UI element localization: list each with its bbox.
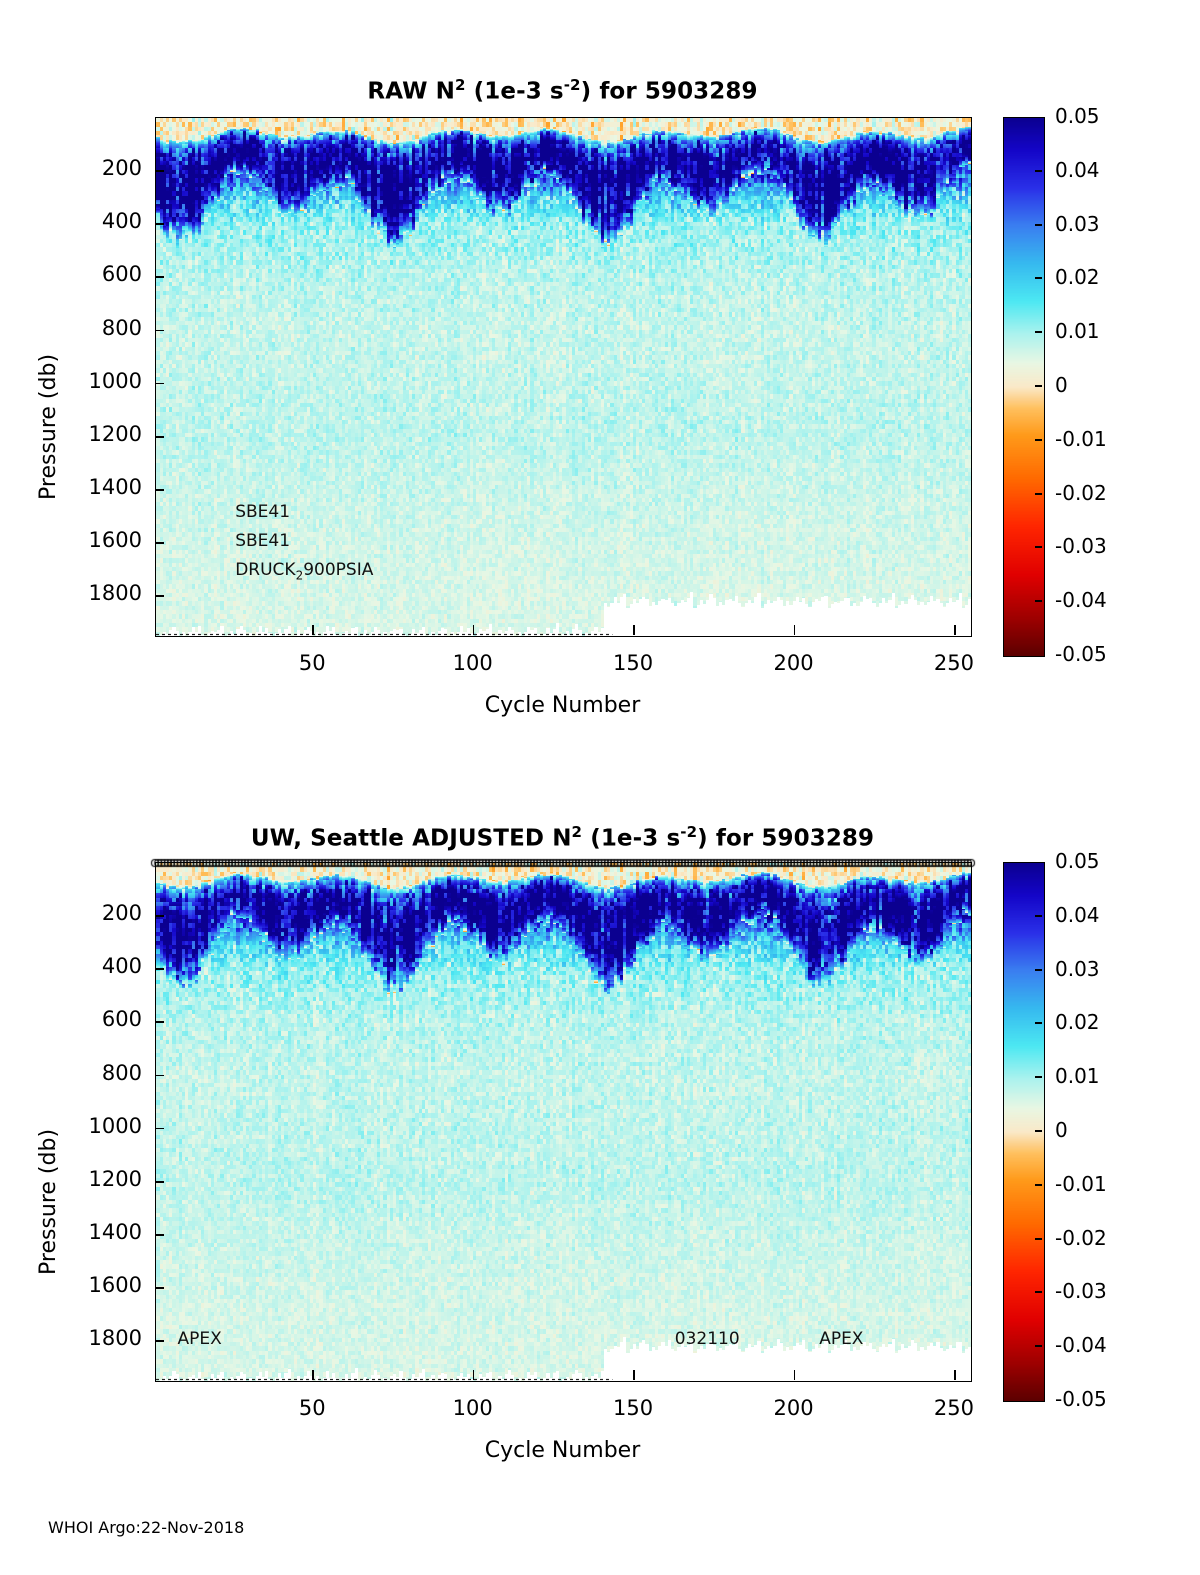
title-sup-n2: 2: [455, 76, 466, 94]
colorbar-tickmark: [1035, 493, 1042, 495]
colorbar-tickmark: [1035, 1022, 1042, 1024]
colorbar-tick-label: -0.01: [1055, 427, 1107, 451]
colorbar-tickmark: [1035, 1076, 1042, 1078]
title-text-prefix: UW, Seattle ADJUSTED N: [251, 826, 572, 852]
y-tickmark: [155, 489, 164, 491]
panel-adjusted: UW, Seattle ADJUSTED N2 (1e-3 s-2) for 5…: [0, 745, 1200, 1535]
y-tick-label: 1600: [47, 528, 142, 552]
y-tickmark: [155, 595, 164, 597]
footer-credit: WHOI Argo:22-Nov-2018: [48, 1518, 244, 1537]
y-tick-label: 200: [47, 156, 142, 180]
colorbar-tick-label: 0: [1055, 1118, 1068, 1142]
colorbar-tick-label: 0.05: [1055, 849, 1100, 873]
platform-left: APEX: [177, 1329, 221, 1349]
panel-raw-plot-area: [155, 117, 972, 637]
x-tick-label: 250: [909, 1396, 999, 1420]
x-tick-label: 150: [588, 1396, 678, 1420]
colorbar-tick-label: 0.04: [1055, 158, 1100, 182]
colorbar-tickmark: [1035, 1291, 1042, 1293]
colorbar-tickmark: [1035, 546, 1042, 548]
y-tickmark: [155, 915, 164, 917]
y-tick-label: 600: [47, 1007, 142, 1031]
y-tickmark: [155, 170, 164, 172]
y-tickmark: [155, 1234, 164, 1236]
x-tickmark: [473, 625, 475, 635]
panel-adjusted-plot-area: [155, 862, 972, 1382]
y-tick-label: 400: [47, 954, 142, 978]
x-tickmark: [954, 625, 956, 635]
colorbar-tick-label: -0.03: [1055, 1279, 1107, 1303]
x-tick-label: 150: [588, 651, 678, 675]
x-tick-label: 250: [909, 651, 999, 675]
y-tick-label: 600: [47, 262, 142, 286]
x-tick-label: 200: [749, 651, 839, 675]
colorbar-tick-label: 0.03: [1055, 957, 1100, 981]
y-tickmark: [155, 223, 164, 225]
y-tick-label: 1000: [47, 369, 142, 393]
x-tick-label: 200: [749, 1396, 839, 1420]
y-tickmark: [155, 1075, 164, 1077]
x-tickmark: [312, 1370, 314, 1380]
y-tick-label: 1400: [47, 475, 142, 499]
x-tickmark: [633, 1370, 635, 1380]
title-text-mid: (1e-3 s: [466, 79, 564, 105]
colorbar-tick-label: -0.04: [1055, 588, 1107, 612]
colorbar-tickmark: [1035, 915, 1042, 917]
colorbar-tick-label: -0.02: [1055, 1226, 1107, 1250]
y-tickmark: [155, 276, 164, 278]
panel-raw-title: RAW N2 (1e-3 s-2) for 5903289: [155, 76, 970, 105]
panel-raw-xlabel: Cycle Number: [155, 693, 970, 718]
y-tickmark: [155, 1181, 164, 1183]
y-tick-label: 1600: [47, 1273, 142, 1297]
y-tick-label: 1800: [47, 1326, 142, 1350]
colorbar-tickmark: [1035, 277, 1042, 279]
x-tick-label: 50: [267, 651, 357, 675]
y-tick-label: 1200: [47, 422, 142, 446]
panel-raw-heatmap: [156, 118, 971, 636]
colorbar-tick-label: 0.03: [1055, 212, 1100, 236]
panel-adjusted-xlabel: Cycle Number: [155, 1438, 970, 1463]
colorbar-tickmark: [1035, 1238, 1042, 1240]
colorbar-tickmark: [1035, 439, 1042, 441]
colorbar-tick-label: -0.02: [1055, 481, 1107, 505]
colorbar-tick-label: 0.01: [1055, 319, 1100, 343]
y-tick-label: 1800: [47, 581, 142, 605]
y-tickmark: [155, 1340, 164, 1342]
panel-adjusted-title: UW, Seattle ADJUSTED N2 (1e-3 s-2) for 5…: [155, 823, 970, 852]
y-tick-label: 1400: [47, 1220, 142, 1244]
panel-raw-colorbar: [1003, 117, 1045, 657]
x-tick-label: 50: [267, 1396, 357, 1420]
colorbar-tick-label: -0.04: [1055, 1333, 1107, 1357]
panel-raw: RAW N2 (1e-3 s-2) for 5903289 Pressure (…: [0, 0, 1200, 760]
cycle-marker-row: [148, 855, 978, 871]
platform-right: APEX: [819, 1329, 863, 1349]
y-tickmark: [155, 436, 164, 438]
y-tickmark: [155, 1287, 164, 1289]
title-text-suffix: ) for 5903289: [697, 826, 874, 852]
colorbar-tickmark: [1035, 600, 1042, 602]
x-tick-label: 100: [428, 651, 518, 675]
y-tick-label: 400: [47, 209, 142, 233]
title-sup-n2: 2: [572, 823, 583, 841]
title-text-prefix: RAW N: [367, 79, 455, 105]
wmo-id: 032110: [675, 1329, 740, 1349]
y-tick-label: 1200: [47, 1167, 142, 1191]
title-sup-units: -2: [680, 823, 697, 841]
sensor-ctd-1: SBE41: [235, 502, 290, 522]
x-tickmark: [473, 1370, 475, 1380]
colorbar-tick-label: 0.04: [1055, 903, 1100, 927]
y-tickmark: [155, 542, 164, 544]
colorbar-tick-label: -0.05: [1055, 1387, 1107, 1411]
colorbar-tickmark: [1035, 385, 1042, 387]
y-tick-label: 200: [47, 901, 142, 925]
panel-adjusted-ylabel: Pressure (db): [36, 1129, 61, 1275]
colorbar-tick-label: 0.02: [1055, 1010, 1100, 1034]
title-sup-units: -2: [564, 76, 581, 94]
colorbar-tickmark: [1035, 969, 1042, 971]
colorbar-tickmark: [1035, 224, 1042, 226]
colorbar-tickmark: [1035, 1345, 1042, 1347]
sensor-pressure: DRUCK2900PSIA: [235, 560, 373, 582]
panel-adjusted-heatmap: [156, 863, 971, 1381]
x-tickmark: [633, 625, 635, 635]
colorbar-tick-label: 0.05: [1055, 104, 1100, 128]
panel-adjusted-colorbar: [1003, 862, 1045, 1402]
colorbar-tick-label: 0.01: [1055, 1064, 1100, 1088]
y-tickmark: [155, 968, 164, 970]
colorbar-tick-label: 0.02: [1055, 265, 1100, 289]
x-tick-label: 100: [428, 1396, 518, 1420]
y-tickmark: [155, 1021, 164, 1023]
x-tickmark: [794, 625, 796, 635]
y-tick-label: 800: [47, 1061, 142, 1085]
y-tickmark: [155, 1128, 164, 1130]
title-text-suffix: ) for 5903289: [581, 79, 758, 105]
title-text-mid: (1e-3 s: [582, 826, 680, 852]
x-tickmark: [954, 1370, 956, 1380]
colorbar-tickmark: [1035, 1130, 1042, 1132]
sensor-ctd-2: SBE41: [235, 531, 290, 551]
colorbar-tickmark: [1035, 1184, 1042, 1186]
y-tick-label: 1000: [47, 1114, 142, 1138]
x-tickmark: [794, 1370, 796, 1380]
y-tick-label: 800: [47, 316, 142, 340]
y-tickmark: [155, 383, 164, 385]
colorbar-tick-label: -0.03: [1055, 534, 1107, 558]
colorbar-tick-label: 0: [1055, 373, 1068, 397]
x-tickmark: [312, 625, 314, 635]
colorbar-tick-label: -0.01: [1055, 1172, 1107, 1196]
colorbar-tickmark: [1035, 170, 1042, 172]
y-tickmark: [155, 330, 164, 332]
colorbar-tick-label: -0.05: [1055, 642, 1107, 666]
colorbar-tickmark: [1035, 331, 1042, 333]
